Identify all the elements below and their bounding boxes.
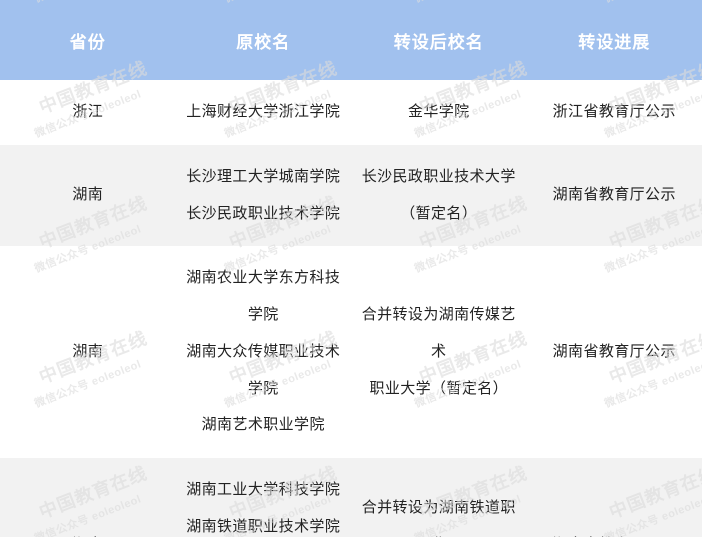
cell-old-school-names: 上海财经大学浙江学院 <box>176 80 352 145</box>
table-row: 湖南长沙理工大学城南学院长沙民政职业技术学院长沙民政职业技术大学（暂定名）湖南省… <box>0 145 702 247</box>
cell-progress-status: 湖南省教育厅公示 <box>527 246 702 458</box>
old-school-name: 长沙理工大学城南学院 <box>182 159 346 196</box>
school-conversion-table: 省份 原校名 转设后校名 转设进展 浙江上海财经大学浙江学院金华学院浙江省教育厅… <box>0 0 702 537</box>
cell-old-school-names: 长沙理工大学城南学院长沙民政职业技术学院 <box>176 145 352 247</box>
new-school-name-line: 合并转设为湖南传媒艺术 <box>357 297 521 371</box>
cell-progress-status: 湖南省教育厅公示 <box>527 458 702 537</box>
old-school-name: 湖南工业大学科技学院 <box>182 472 346 509</box>
table-header-row: 省份 原校名 转设后校名 转设进展 <box>0 0 702 80</box>
new-school-name-line: 长沙民政职业技术大学 <box>357 159 521 196</box>
cell-new-school-name: 合并转设为湖南传媒艺术职业大学（暂定名） <box>351 246 527 458</box>
cell-province: 浙江 <box>0 80 176 145</box>
table-body: 浙江上海财经大学浙江学院金华学院浙江省教育厅公示湖南长沙理工大学城南学院长沙民政… <box>0 80 702 537</box>
old-school-name: 上海财经大学浙江学院 <box>182 94 346 131</box>
column-header-progress: 转设进展 <box>527 0 702 80</box>
column-header-new-name: 转设后校名 <box>351 0 527 80</box>
old-school-name: 湖南铁道职业技术学院 <box>182 509 346 537</box>
cell-old-school-names: 湖南工业大学科技学院湖南铁道职业技术学院湖南铁路科技职业技术学院 <box>176 458 352 537</box>
new-school-name-line: 金华学院 <box>357 94 521 131</box>
table-row: 湖南湖南农业大学东方科技学院湖南大众传媒职业技术学院湖南艺术职业学院合并转设为湖… <box>0 246 702 458</box>
cell-progress-status: 浙江省教育厅公示 <box>527 80 702 145</box>
new-school-name-line: （暂定名） <box>357 196 521 233</box>
column-header-province: 省份 <box>0 0 176 80</box>
table-row: 浙江上海财经大学浙江学院金华学院浙江省教育厅公示 <box>0 80 702 145</box>
column-header-old-name: 原校名 <box>176 0 352 80</box>
cell-new-school-name: 合并转设为湖南铁道职业技术大学（暂定名） <box>351 458 527 537</box>
cell-province: 湖南 <box>0 145 176 247</box>
cell-province: 湖南 <box>0 458 176 537</box>
old-school-name: 长沙民政职业技术学院 <box>182 196 346 233</box>
new-school-name-line: 职业大学（暂定名） <box>357 371 521 408</box>
cell-province: 湖南 <box>0 246 176 458</box>
old-school-name: 湖南大众传媒职业技术学院 <box>182 334 346 408</box>
old-school-name: 湖南艺术职业学院 <box>182 407 346 444</box>
cell-old-school-names: 湖南农业大学东方科技学院湖南大众传媒职业技术学院湖南艺术职业学院 <box>176 246 352 458</box>
table-row: 湖南湖南工业大学科技学院湖南铁道职业技术学院湖南铁路科技职业技术学院合并转设为湖… <box>0 458 702 537</box>
table-container: 中国教育在线微信公众号 eoleoleol中国教育在线微信公众号 eoleole… <box>0 0 702 537</box>
cell-progress-status: 湖南省教育厅公示 <box>527 145 702 247</box>
cell-new-school-name: 长沙民政职业技术大学（暂定名） <box>351 145 527 247</box>
table-header: 省份 原校名 转设后校名 转设进展 <box>0 0 702 80</box>
new-school-name-line: 合并转设为湖南铁道职业 <box>357 490 521 537</box>
old-school-name: 湖南农业大学东方科技学院 <box>182 260 346 334</box>
cell-new-school-name: 金华学院 <box>351 80 527 145</box>
